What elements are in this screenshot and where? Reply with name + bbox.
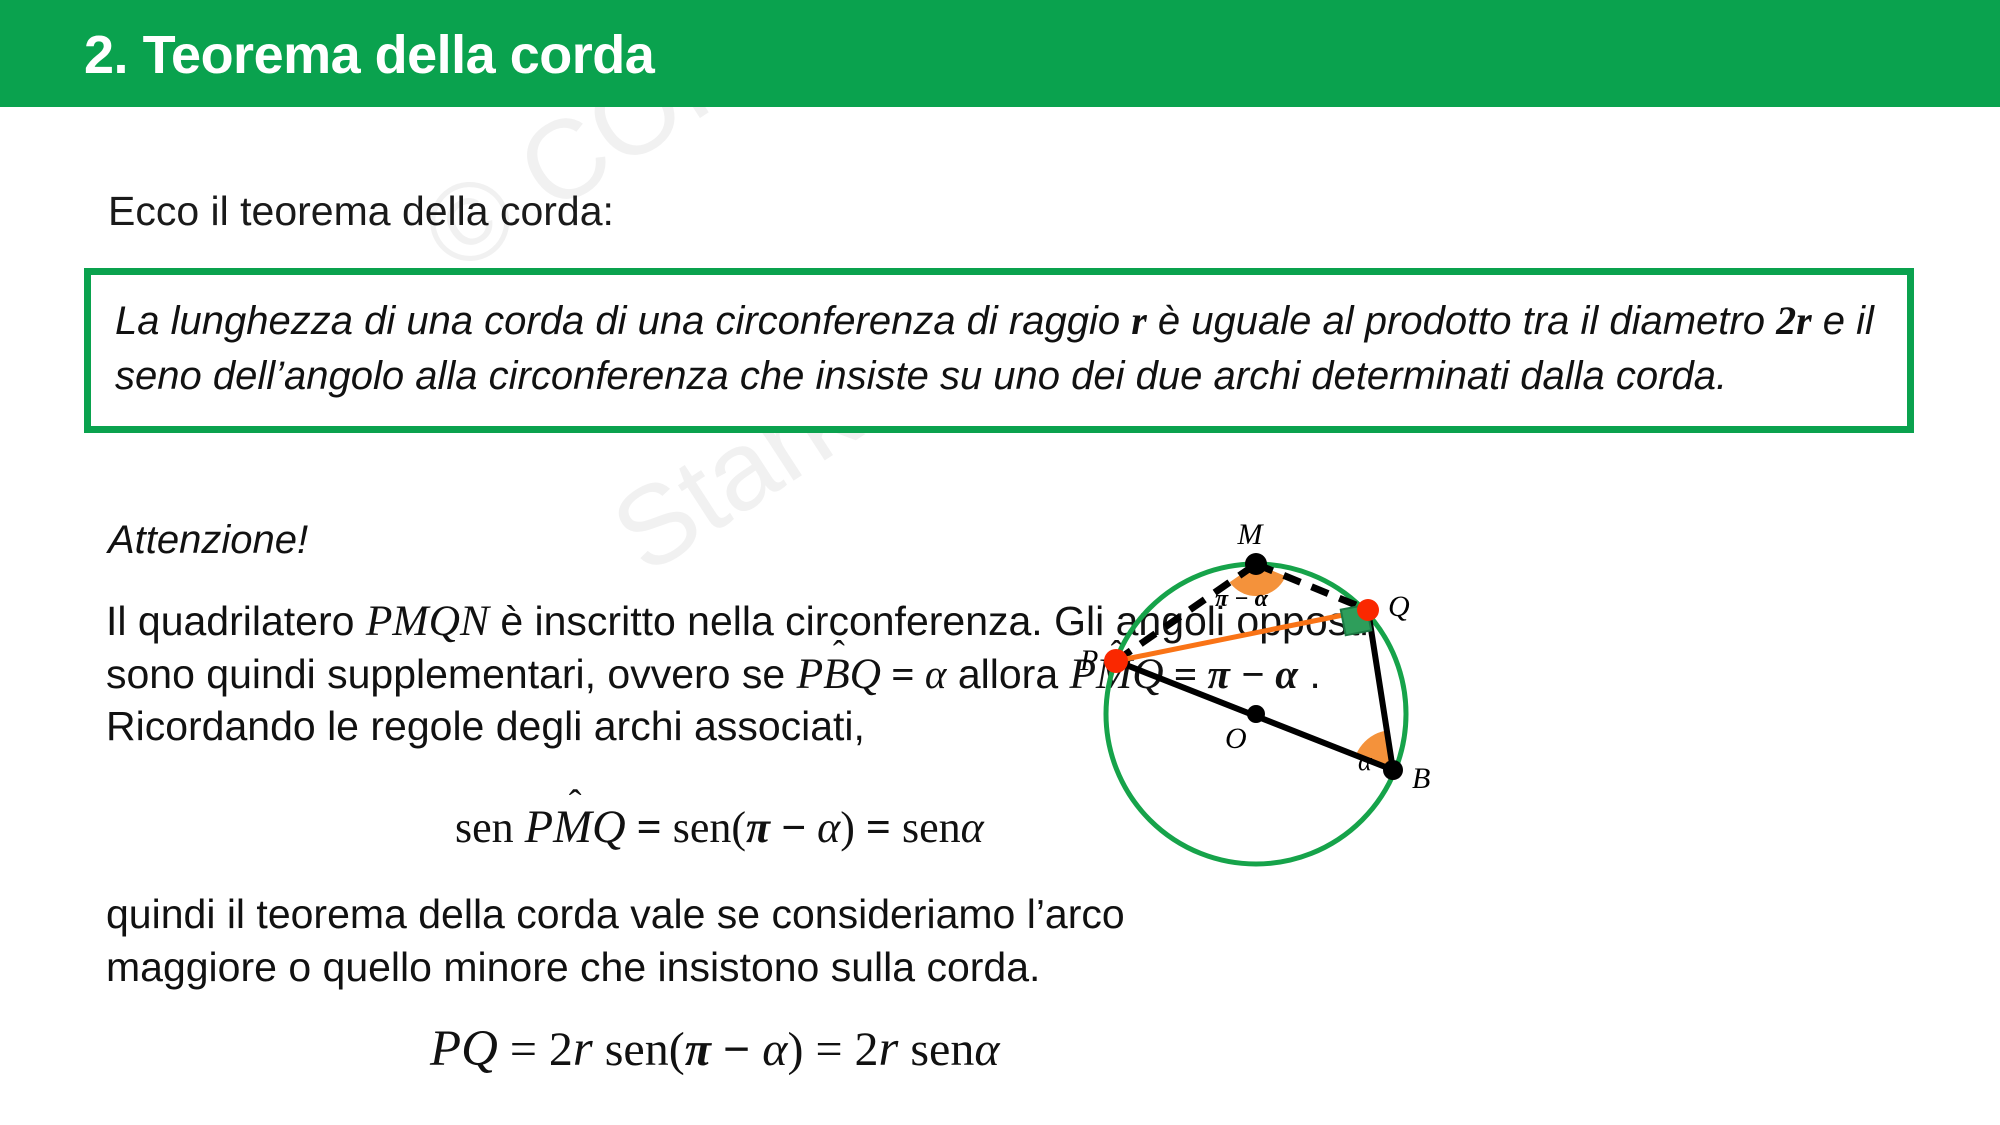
label-O: O	[1225, 722, 1247, 755]
point-Q	[1357, 599, 1379, 621]
eq1-close-paren: )	[840, 803, 855, 852]
para1-equals-1: =	[881, 651, 925, 697]
label-Q: Q	[1388, 590, 1410, 623]
header-banner: 2. Teorema della corda	[0, 0, 2000, 107]
theorem-statement: La lunghezza di una corda di una circonf…	[115, 293, 1883, 404]
eq1-angle-pmq: ̂PMQ	[525, 800, 626, 854]
eq1-alpha: α	[817, 803, 840, 852]
eq1-sen-3: sen	[902, 803, 961, 852]
point-O	[1247, 705, 1265, 723]
theorem-symbol-2r: 2r	[1776, 298, 1812, 343]
eq2-equals-2: = 2	[803, 1023, 878, 1076]
label-angle-B: α	[1358, 747, 1373, 776]
eq2-pi: π	[685, 1023, 711, 1076]
eq2-alpha-2: α	[974, 1023, 999, 1076]
eq2-r-2: r	[879, 1021, 899, 1077]
para1-alpha-1: α	[925, 651, 947, 697]
para1-seg-5: Ricordando le regole degli archi associa…	[106, 703, 865, 749]
eq2-minus: −	[711, 1023, 762, 1076]
theorem-seg-2: è uguale al prodotto tra il diametro	[1147, 299, 1776, 343]
eq1-equals-1: =	[626, 803, 673, 852]
slide-content: Ecco il teorema della corda: La lunghezz…	[0, 0, 2000, 1125]
theorem-seg-1: La lunghezza di una corda di una circonf…	[115, 299, 1131, 343]
slide: © COPYRIGHT 2015 Stark Srl 2. Teorema de…	[0, 0, 2000, 1125]
page-title: 2. Teorema della corda	[84, 24, 654, 86]
para1-seg-3: allora	[946, 651, 1069, 697]
angle-pbq-letters: PBQ	[797, 650, 881, 698]
eq1-alpha-2: α	[961, 803, 984, 852]
eq2-sen-2: sen	[898, 1023, 974, 1076]
para1-seg-1: Il quadrilatero	[106, 598, 366, 644]
attenzione-label: Attenzione!	[108, 518, 308, 563]
eq2-lhs: PQ	[430, 1021, 498, 1077]
label-B: B	[1412, 762, 1430, 795]
eq2-close-paren: )	[787, 1023, 803, 1076]
page-title-text: Teorema della corda	[143, 25, 655, 85]
equation-1: sen ̂PMQ = sen(π − α) = senα	[455, 800, 984, 854]
theorem-symbol-r: r	[1131, 298, 1147, 343]
eq2-alpha: α	[762, 1023, 787, 1076]
equation-2: PQ = 2r sen(π − α) = 2r senα	[430, 1020, 1000, 1078]
eq1-pi: π	[746, 803, 770, 852]
label-P: P	[1079, 644, 1098, 677]
quadrilateral-name: PMQN	[366, 597, 489, 645]
label-M: M	[1237, 520, 1265, 551]
point-B	[1383, 760, 1403, 780]
eq1-minus: −	[770, 803, 817, 852]
intro-text: Ecco il teorema della corda:	[108, 188, 614, 235]
label-angle-M: π − α	[1215, 586, 1269, 612]
theorem-box: La lunghezza di una corda di una circonf…	[84, 268, 1914, 433]
point-P	[1104, 649, 1128, 673]
eq1-angle-letters: PMQ	[525, 801, 626, 853]
eq2-sen-1: sen(	[593, 1023, 685, 1076]
angle-pbq: ̂PBQ	[797, 648, 881, 701]
eq1-sen-2: sen(	[673, 803, 746, 852]
eq2-r-1: r	[573, 1021, 593, 1077]
page-title-number: 2.	[84, 25, 128, 85]
eq1-sen-1: sen	[455, 803, 525, 852]
point-M	[1245, 553, 1267, 575]
eq2-equals-1: = 2	[498, 1023, 573, 1076]
geometry-figure: M Q P O B π − α α	[1060, 520, 1480, 920]
eq1-equals-2: =	[855, 803, 902, 852]
